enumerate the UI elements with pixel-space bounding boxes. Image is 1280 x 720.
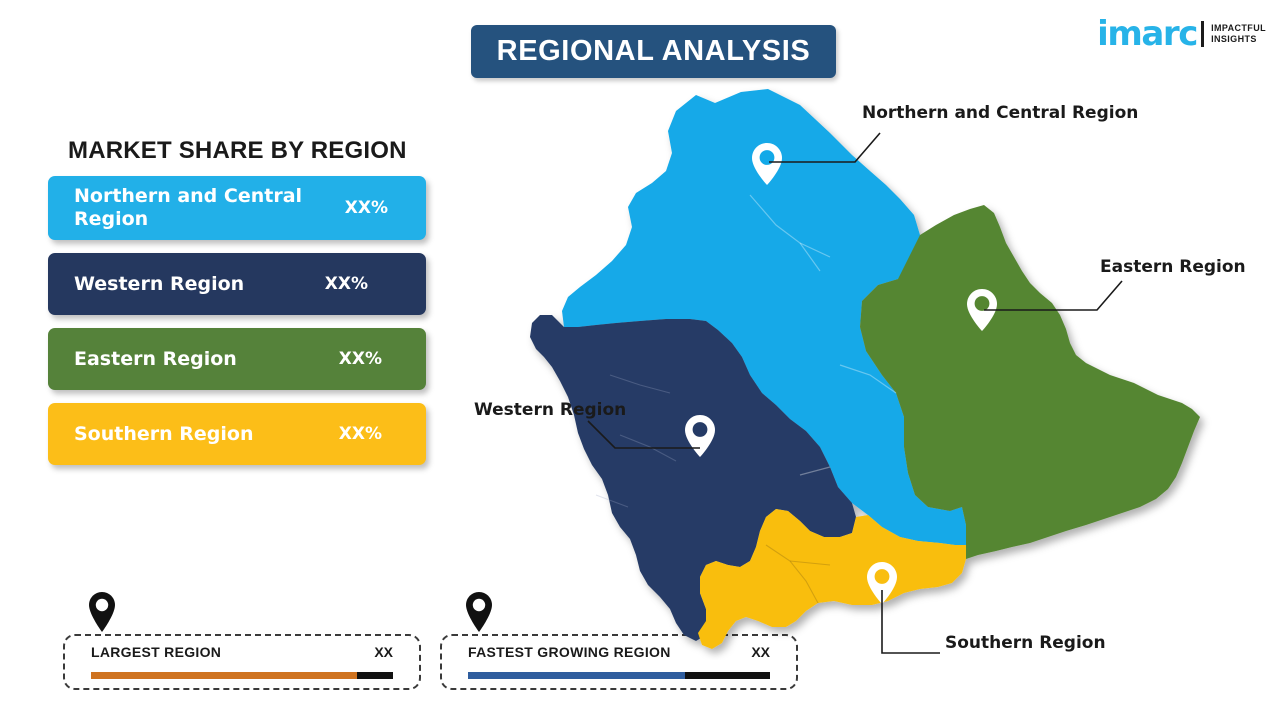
largest-region-box: LARGEST REGION XX <box>63 634 421 690</box>
region-value: XX% <box>339 424 382 444</box>
fastest-growing-region-progress-fill <box>468 672 685 679</box>
region-label: Southern Region <box>74 423 329 446</box>
logo-tagline: IMPACTFUL INSIGHTS <box>1211 23 1266 45</box>
imarc-logo: imarc IMPACTFUL INSIGHTS <box>1097 14 1266 54</box>
region-label: Northern and Central Region <box>74 185 335 231</box>
map-pin-icon <box>462 590 496 639</box>
largest-region-label: LARGEST REGION <box>91 644 221 660</box>
region-value: XX% <box>325 274 368 294</box>
largest-region-stat: LARGEST REGION XX <box>63 634 421 690</box>
region-value: XX% <box>339 349 382 369</box>
slide-canvas: REGIONAL ANALYSIS imarc IMPACTFUL INSIGH… <box>0 0 1280 720</box>
saudi-arabia-region-map <box>500 75 1240 660</box>
map-label-eastern: Eastern Region <box>1100 257 1246 277</box>
region-label: Eastern Region <box>74 348 329 371</box>
page-title: REGIONAL ANALYSIS <box>471 25 836 78</box>
logo-tagline-line2: INSIGHTS <box>1211 34 1266 45</box>
logo-wordmark: imarc <box>1097 17 1197 51</box>
largest-region-value: XX <box>374 644 393 660</box>
map-label-southern: Southern Region <box>945 633 1106 653</box>
list-item-western[interactable]: Western Region XX% <box>48 253 426 315</box>
largest-region-progress-fill <box>91 672 357 679</box>
logo-divider <box>1201 21 1204 47</box>
region-value: XX% <box>345 198 388 218</box>
market-share-heading: MARKET SHARE BY REGION <box>68 137 407 165</box>
region-label: Western Region <box>74 273 315 296</box>
list-item-eastern[interactable]: Eastern Region XX% <box>48 328 426 390</box>
fastest-growing-region-progress-track <box>468 672 770 679</box>
map-label-western: Western Region <box>474 400 626 420</box>
list-item-southern[interactable]: Southern Region XX% <box>48 403 426 465</box>
map-label-northern-central: Northern and Central Region <box>862 103 1138 123</box>
region-share-list: Northern and Central Region XX% Western … <box>48 176 428 478</box>
logo-tagline-line1: IMPACTFUL <box>1211 23 1266 34</box>
list-item-northern-central[interactable]: Northern and Central Region XX% <box>48 176 426 240</box>
largest-region-progress-track <box>91 672 393 679</box>
page-title-text: REGIONAL ANALYSIS <box>497 35 811 68</box>
map-pin-icon <box>85 590 119 639</box>
